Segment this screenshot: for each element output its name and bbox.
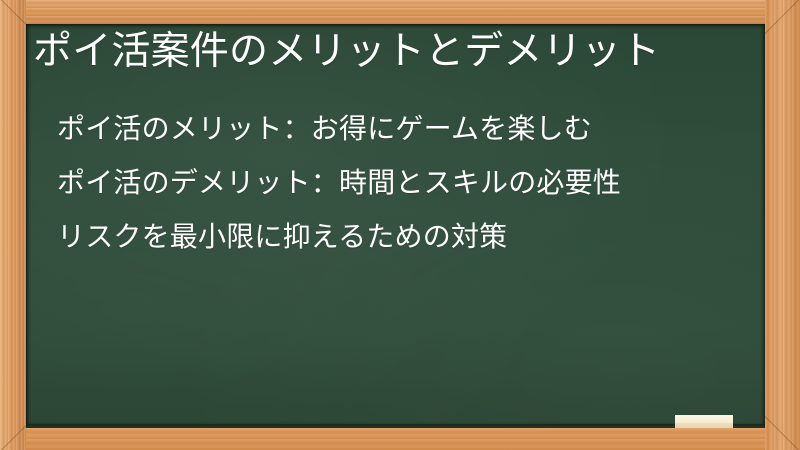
chalk-eraser-icon xyxy=(675,415,733,428)
page-title: ポイ活案件のメリットとデメリット xyxy=(33,28,660,77)
wood-frame-top xyxy=(0,0,800,24)
wood-frame-left xyxy=(0,0,26,450)
chalkboard-text-area: ポイ活案件のメリットとデメリット ポイ活のメリット：お得にゲームを楽しむ ポイ活… xyxy=(26,24,765,428)
wood-frame-right xyxy=(765,0,800,450)
list-item: ポイ活のデメリット：時間とスキルの必要性 xyxy=(57,156,747,210)
bullet-list: ポイ活のメリット：お得にゲームを楽しむ ポイ活のデメリット：時間とスキルの必要性… xyxy=(57,102,747,264)
list-item: ポイ活のメリット：お得にゲームを楽しむ xyxy=(57,102,747,156)
chalk-eraser-body xyxy=(675,423,733,428)
wood-frame-bottom-ledge xyxy=(0,428,800,450)
chalkboard-slide: ポイ活案件のメリットとデメリット ポイ活のメリット：お得にゲームを楽しむ ポイ活… xyxy=(0,0,800,450)
chalk-eraser-felt xyxy=(675,415,733,423)
chalkboard-surface: ポイ活案件のメリットとデメリット ポイ活のメリット：お得にゲームを楽しむ ポイ活… xyxy=(26,24,765,428)
list-item: リスクを最小限に抑えるための対策 xyxy=(57,210,747,264)
